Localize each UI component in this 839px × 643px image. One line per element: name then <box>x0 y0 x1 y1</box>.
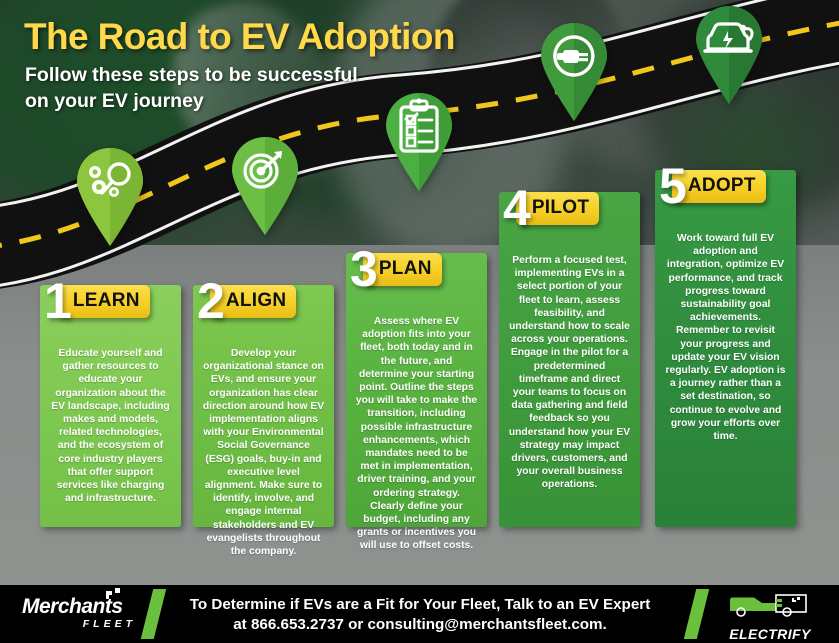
step-number-4: 4 <box>503 186 529 230</box>
step-number-3: 3 <box>350 247 376 291</box>
step-label-1: LEARN <box>57 285 150 318</box>
merchants-fleet-logo[interactable]: Merchants FLEET <box>22 596 140 636</box>
map-pin-5[interactable] <box>692 5 766 105</box>
infographic-root: The Road to EV Adoption Follow these ste… <box>0 0 839 643</box>
step-card-5[interactable]: 5 ADOPT Work toward full EV adoption and… <box>655 170 796 527</box>
contact-cta: To Determine if EVs are a Fit for Your F… <box>170 595 670 635</box>
step-body-3: Assess where EV adoption fits into your … <box>355 315 478 553</box>
step-card-2[interactable]: 2 ALIGN Develop your organizational stan… <box>193 285 334 527</box>
step-card-4[interactable]: 4 PILOT Perform a focused test, implemen… <box>499 192 640 527</box>
footer-divider-left <box>141 589 166 639</box>
electrify-fleet-logo[interactable]: ELECTRIFY Fleet <box>715 591 825 639</box>
map-pin-1[interactable] <box>73 147 147 247</box>
footer-bar: Merchants FLEET To Determine if EVs are … <box>0 585 839 643</box>
step-body-1: Educate yourself and gather resources to… <box>49 347 172 505</box>
step-label-5: ADOPT <box>672 170 766 203</box>
footer-divider-right <box>684 589 709 639</box>
brand-name: Merchants <box>22 596 140 617</box>
cta-mid: or <box>344 616 368 633</box>
map-pin-3[interactable] <box>382 92 456 192</box>
step-body-4: Perform a focused test, implementing EVs… <box>508 254 631 492</box>
cta-phone[interactable]: 866.653.2737 <box>251 616 344 633</box>
cta-prefix: at <box>233 616 251 633</box>
step-number-2: 2 <box>197 279 223 323</box>
step-card-3[interactable]: 3 PLAN Assess where EV adoption fits int… <box>346 253 487 527</box>
cta-email[interactable]: consulting@merchantsfleet.com. <box>367 616 606 633</box>
cta-line-2: at 866.653.2737 or consulting@merchantsf… <box>170 615 670 635</box>
merchants-mark-icon <box>104 587 122 603</box>
map-pin-4[interactable] <box>537 22 611 122</box>
step-number-5: 5 <box>659 164 685 208</box>
step-card-1[interactable]: 1 LEARN Educate yourself and gather reso… <box>40 285 181 527</box>
step-body-2: Develop your organizational stance on EV… <box>202 347 325 558</box>
electric-van-icon <box>724 591 816 621</box>
step-body-5: Work toward full EV adoption and integra… <box>664 232 787 443</box>
map-pin-2[interactable] <box>228 136 302 236</box>
step-number-1: 1 <box>44 279 70 323</box>
electrify-name: ELECTRIFY <box>715 627 825 641</box>
brand-subtitle: FLEET <box>22 618 140 630</box>
cta-line-1: To Determine if EVs are a Fit for Your F… <box>170 595 670 615</box>
